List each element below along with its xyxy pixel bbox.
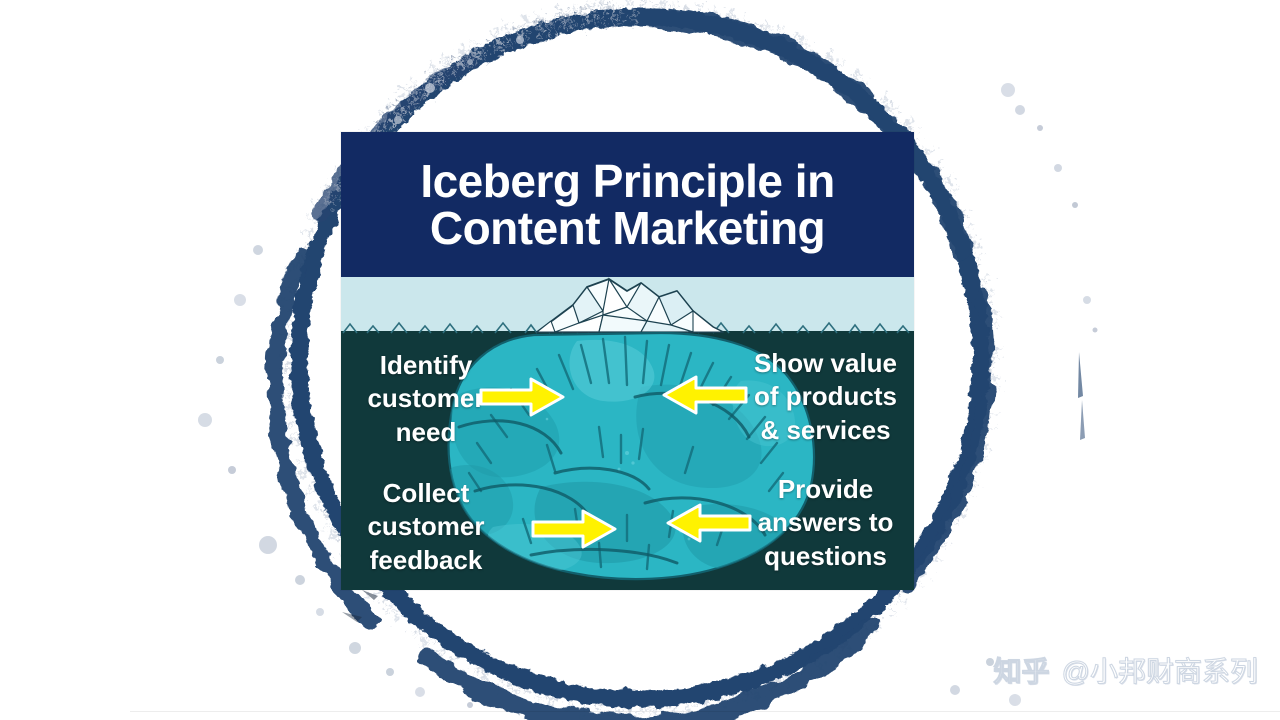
watermark: 知乎 @小邦财商系列 <box>994 650 1258 690</box>
title-line-2: Content Marketing <box>430 205 825 252</box>
arrow-left-provide-icon <box>666 503 752 543</box>
watermark-handle: @小邦财商系列 <box>1062 650 1258 690</box>
title-line-1: Iceberg Principle in <box>420 158 834 205</box>
title-banner: Iceberg Principle in Content Marketing <box>341 132 914 277</box>
infographic-card: Iceberg Principle in Content Marketing <box>341 132 914 590</box>
arrow-left-show-value-icon <box>662 375 748 415</box>
callout-provide-answers-to-questions: Provide answers to questions <box>743 473 908 573</box>
callout-collect-customer-feedback: Collect customer feedback <box>351 477 501 577</box>
callout-show-value-of-products: Show value of products & services <box>743 347 908 447</box>
arrow-right-collect-icon <box>531 509 617 549</box>
arrow-right-identify-icon <box>479 377 565 417</box>
zhihu-logo-text: 知乎 <box>994 650 1050 690</box>
bottom-divider <box>130 711 1280 712</box>
iceberg-tip <box>537 279 723 332</box>
iceberg-scene: Identify customer need Collect customer … <box>341 277 914 590</box>
slide-canvas: Iceberg Principle in Content Marketing <box>0 0 1280 720</box>
